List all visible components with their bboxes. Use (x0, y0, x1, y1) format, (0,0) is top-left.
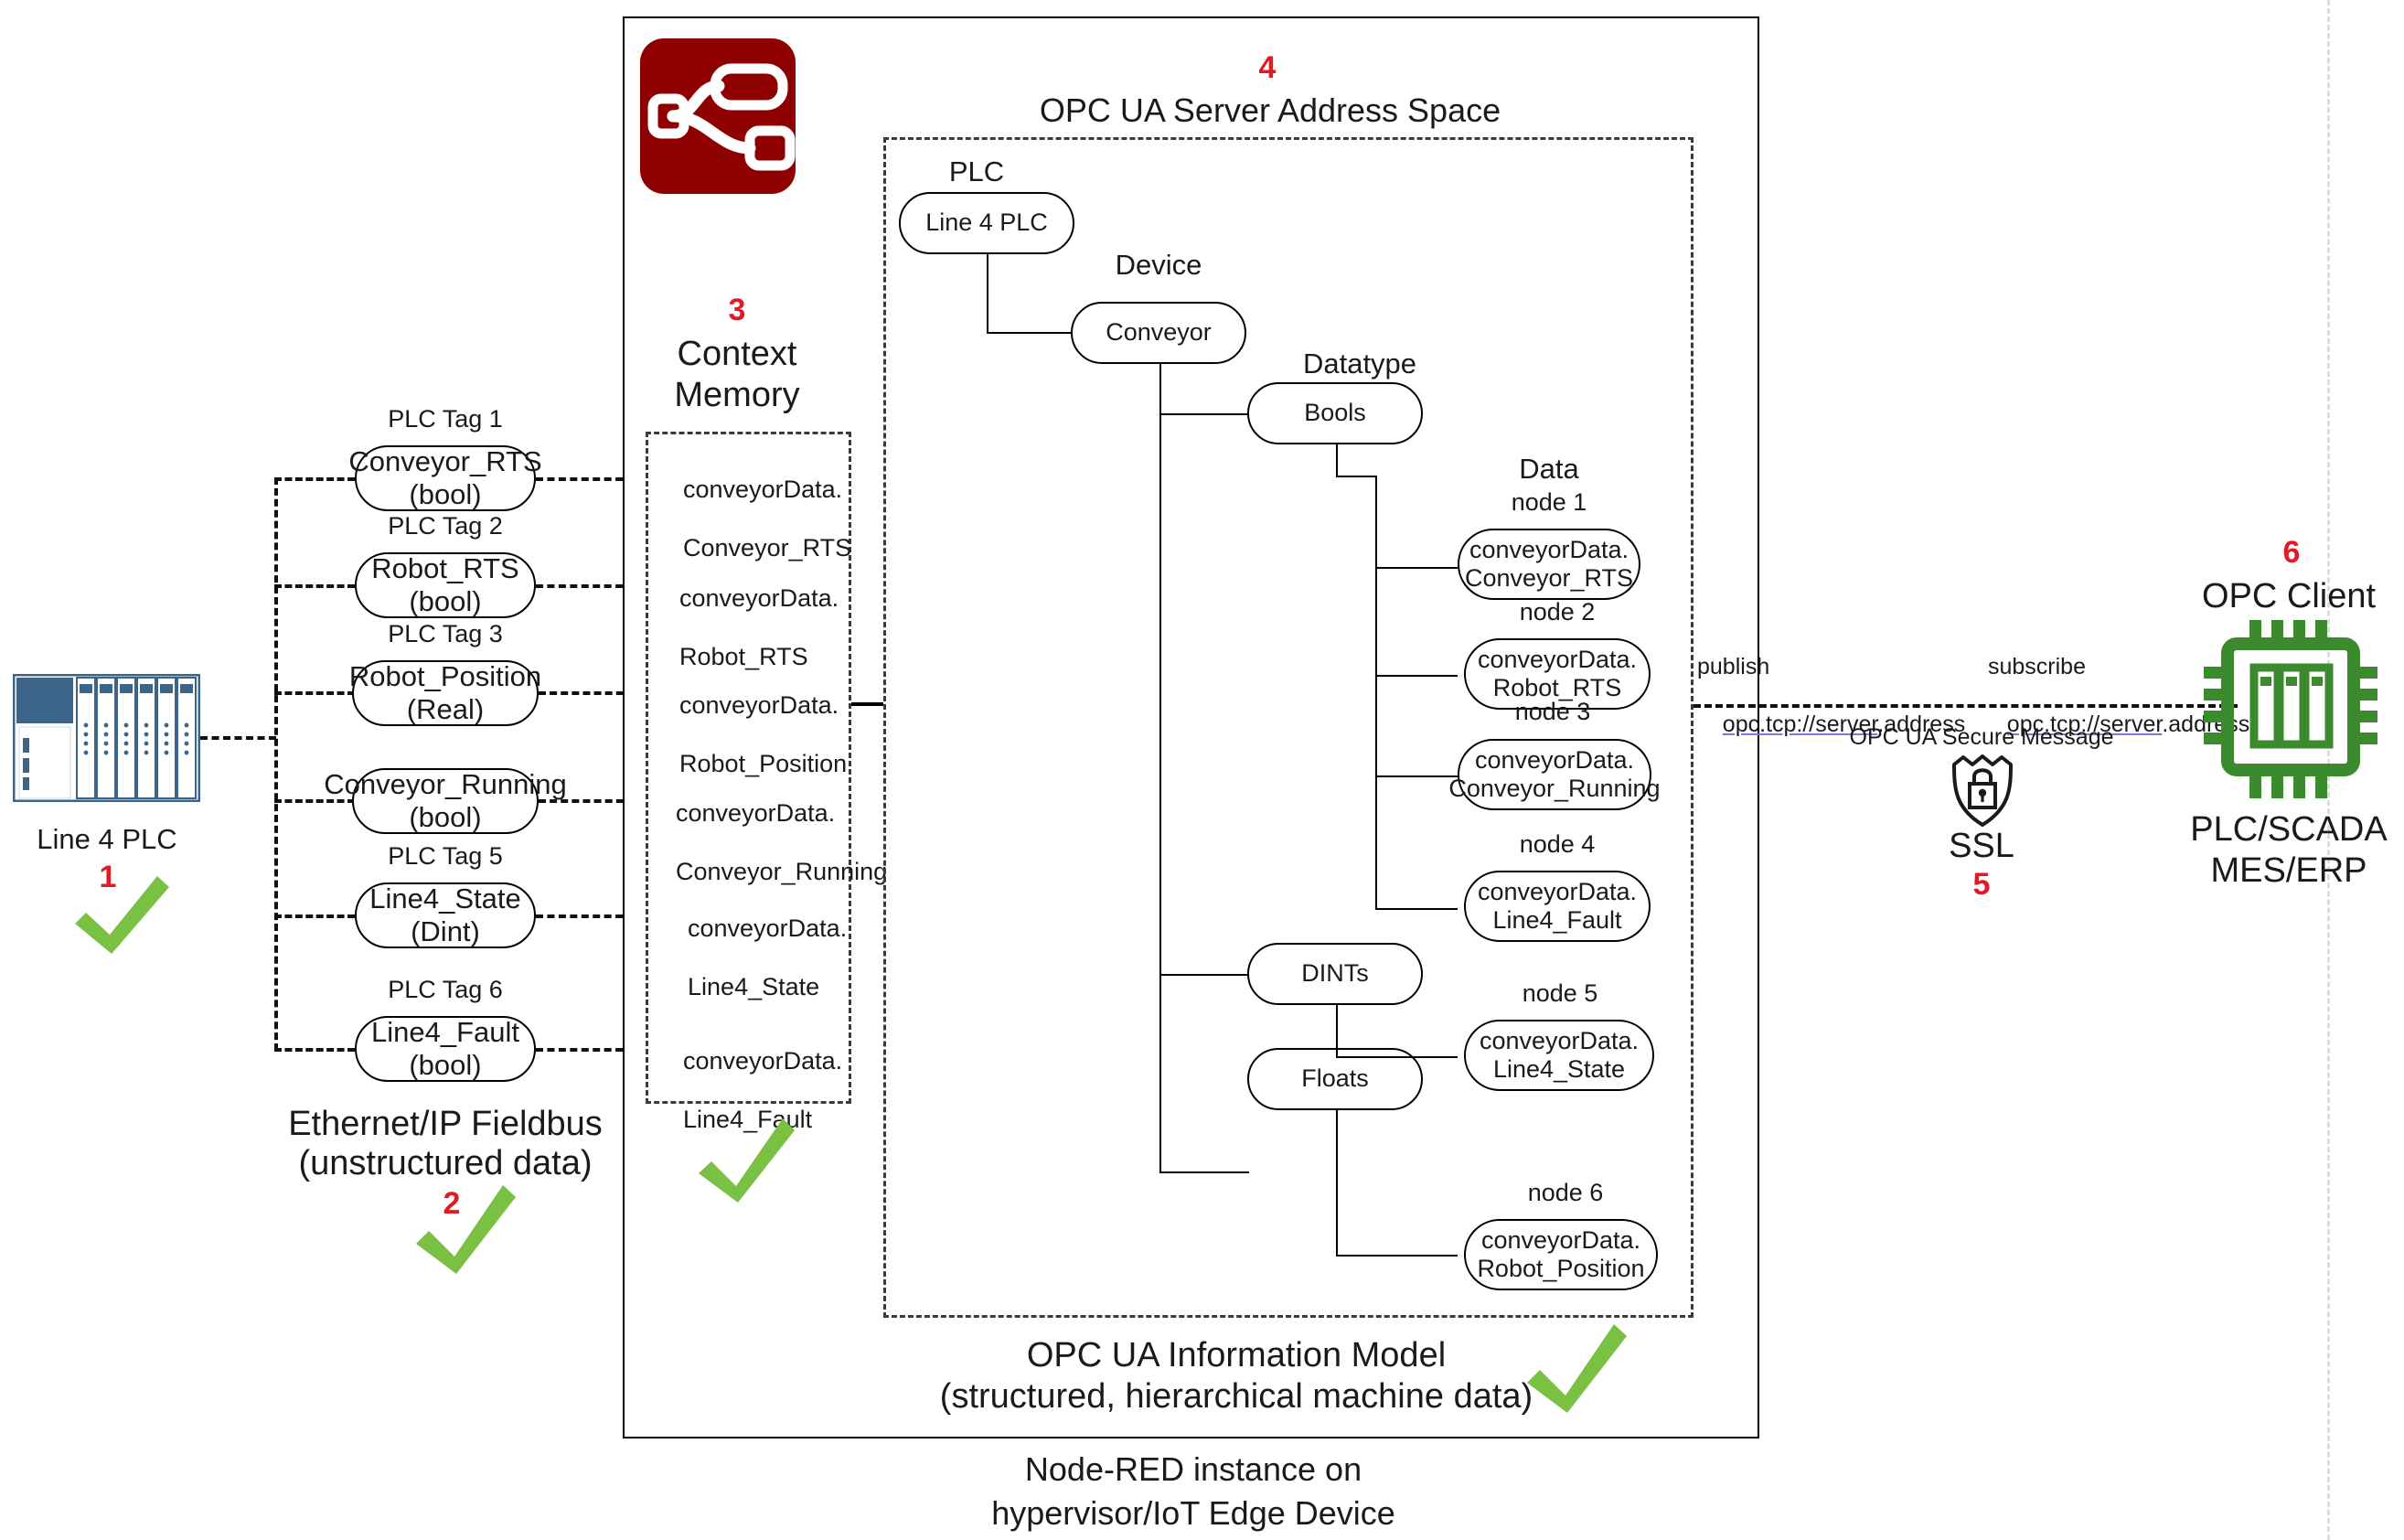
plc-tag-3-type: (Real) (407, 693, 484, 725)
connector-to-node-1 (1375, 567, 1458, 569)
column-header-datatype: Datatype (1303, 348, 1416, 381)
fieldbus-branch-6 (274, 1048, 355, 1052)
node-4: conveyorData.Line4_Fault (1464, 871, 1651, 942)
opc-client-sub-line2: MES/ERP (2210, 850, 2367, 892)
column-header-data: Data (1519, 453, 1578, 487)
connector-floats-down (1336, 1110, 1338, 1257)
context-memory-title-line2: Memory (674, 375, 799, 416)
plc-tag-6-type: (bool) (409, 1049, 481, 1081)
node-5-line2: Line4_State (1493, 1055, 1625, 1083)
node-2-line1: conveyorData. (1478, 646, 1637, 673)
node-4-line1: conveyorData. (1478, 878, 1637, 905)
plc-tag-3-caption: PLC Tag 3 (388, 620, 503, 649)
node-5: conveyorData.Line4_State (1464, 1020, 1654, 1091)
context-memory-title-line1: Context (678, 334, 797, 375)
plc-tag-5-caption: PLC Tag 5 (388, 842, 503, 872)
check-mark-3 (690, 1111, 800, 1212)
context-memory-entry-1-line1: conveyorData. (683, 476, 842, 503)
information-model-caption-line1: OPC UA Information Model (1027, 1335, 1446, 1376)
context-memory-entry-5: conveyorData. Line4_State (660, 885, 847, 1031)
ssl-label: SSL (1949, 826, 2014, 867)
opc-client-title: OPC Client (2202, 576, 2376, 617)
plc-tag-2-name: Robot_RTS (371, 552, 518, 584)
plc-tag-1-name: Conveyor_RTS (348, 445, 541, 477)
node-1-caption: node 1 (1512, 488, 1587, 518)
connector-device-down (1159, 364, 1161, 413)
connector-datatype-trunk (1159, 412, 1161, 1173)
node-6-caption: node 6 (1528, 1179, 1604, 1208)
fieldbus-label-line1: Ethernet/IP Fieldbus (288, 1104, 603, 1145)
connector-to-node-2 (1375, 675, 1458, 677)
plc-rack-icon (13, 674, 200, 802)
node-2-caption: node 2 (1520, 598, 1596, 627)
node-1-line2: Conveyor_RTS (1465, 564, 1633, 592)
fieldbus-branch-2 (274, 584, 355, 588)
plc-source-label: Line 4 PLC (37, 823, 176, 857)
cpu-chip-icon (2204, 620, 2377, 798)
connector-to-node-5 (1336, 1056, 1458, 1058)
connector-to-dints (1159, 974, 1249, 976)
marker-6: 6 (2283, 535, 2301, 571)
diagram-canvas: Line 4 PLC 1 PLC Tag 1 Conveyor_RTS(bool… (0, 0, 2404, 1540)
plc-tag-1-type: (bool) (409, 478, 481, 510)
check-mark-2 (407, 1178, 521, 1283)
plc-tag-4-node: Conveyor_Running(bool) (352, 768, 539, 834)
node-3-caption: node 3 (1515, 698, 1591, 727)
connector-dints-down (1336, 1005, 1338, 1058)
marker-4: 4 (1259, 50, 1277, 86)
node-red-logo (640, 38, 796, 194)
address-space-title: OPC UA Server Address Space (1040, 91, 1501, 130)
node-4-caption: node 4 (1520, 830, 1596, 860)
check-mark-4 (1518, 1317, 1632, 1422)
connector-to-node-6 (1336, 1255, 1458, 1257)
node-6-line1: conveyorData. (1481, 1226, 1640, 1254)
fieldbus-branch-3 (274, 691, 355, 695)
node-3: conveyorData.Conveyor_Running (1458, 739, 1651, 810)
plc-tag-5-type: (Dint) (411, 915, 480, 947)
information-model-caption-line2: (structured, hierarchical machine data) (940, 1376, 1533, 1417)
host-caption-line1: Node-RED instance on (1025, 1450, 1362, 1489)
connector-plc-down (987, 254, 988, 333)
plc-tag-1-caption: PLC Tag 1 (388, 405, 503, 434)
plc-tag-5-node: Line4_State(Dint) (355, 882, 536, 948)
column-header-plc: PLC (949, 155, 1004, 189)
context-memory-entry-5-line2: Line4_State (688, 973, 819, 1000)
node-5-caption: node 5 (1523, 979, 1598, 1009)
node-1-line1: conveyorData. (1469, 536, 1629, 563)
connector-to-floats (1159, 1171, 1249, 1173)
datatype-node-dints: DINTs (1247, 943, 1423, 1005)
memory-to-address-space-link (851, 702, 883, 706)
connector-to-node-3 (1375, 775, 1458, 777)
node-4-line2: Line4_Fault (1492, 906, 1621, 934)
marker-3: 3 (729, 293, 746, 328)
publish-label: publish (1697, 654, 1769, 681)
context-memory-entry-5-line1: conveyorData. (688, 914, 847, 942)
plc-tag-4-type: (bool) (409, 801, 481, 833)
subscribe-label: subscribe (1988, 654, 2086, 681)
connector-to-node-4 (1375, 908, 1458, 910)
column-header-device: Device (1116, 249, 1202, 283)
node-6-line2: Robot_Position (1477, 1255, 1644, 1282)
opc-client-sub-line1: PLC/SCADA (2190, 809, 2387, 850)
address-space-box (883, 137, 1693, 1318)
node-1: conveyorData.Conveyor_RTS (1458, 529, 1640, 600)
plc-tag-5-name: Line4_State (369, 882, 520, 914)
node-3-line2: Conveyor_Running (1448, 775, 1660, 802)
datatype-node-bools: Bools (1247, 382, 1423, 444)
fieldbus-branch-5 (274, 914, 355, 918)
plc-tag-6-name: Line4_Fault (371, 1016, 519, 1048)
context-memory-entry-6-line1: conveyorData. (683, 1047, 842, 1075)
plc-tag-3-node: Robot_Position(Real) (352, 660, 539, 726)
fieldbus-branch-1 (274, 477, 355, 481)
plc-tag-2-type: (bool) (409, 585, 481, 617)
node-3-line1: conveyorData. (1475, 746, 1634, 774)
plc-tag-4-name: Conveyor_Running (324, 768, 566, 800)
plc-tag-6-node: Line4_Fault(bool) (355, 1016, 536, 1082)
context-memory-entry-2-line1: conveyorData. (679, 584, 839, 612)
connector-bools-down (1336, 444, 1338, 477)
connector-bools-elbow (1336, 476, 1377, 477)
address-space-device-node: Conveyor (1071, 302, 1246, 364)
connector-to-bools (1159, 413, 1249, 415)
host-caption-line2: hypervisor/IoT Edge Device (991, 1494, 1395, 1533)
node-6: conveyorData.Robot_Position (1464, 1219, 1658, 1290)
fieldbus-trunk (274, 477, 278, 1051)
plc-tag-6-caption: PLC Tag 6 (388, 976, 503, 1005)
plc-tag-2-caption: PLC Tag 2 (388, 512, 503, 541)
marker-5: 5 (1973, 867, 1991, 903)
plc-tag-1-node: Conveyor_RTS(bool) (355, 445, 536, 511)
context-memory-entry-4-line1: conveyorData. (676, 799, 835, 827)
context-memory-entry-4-line2: Conveyor_Running (676, 858, 887, 885)
context-memory-entry-3-line1: conveyorData. (679, 691, 839, 719)
fieldbus-plc-stub (200, 736, 276, 740)
address-space-plc-node: Line 4 PLC (899, 192, 1074, 254)
plc-tag-2-node: Robot_RTS(bool) (355, 552, 536, 618)
check-mark-1 (66, 867, 176, 963)
shield-lock-icon (1945, 748, 2020, 832)
connector-plc-across (987, 332, 1073, 334)
node-5-line1: conveyorData. (1480, 1027, 1639, 1054)
connector-bools-trunk (1375, 476, 1377, 910)
plc-tag-3-name: Robot_Position (349, 660, 541, 692)
